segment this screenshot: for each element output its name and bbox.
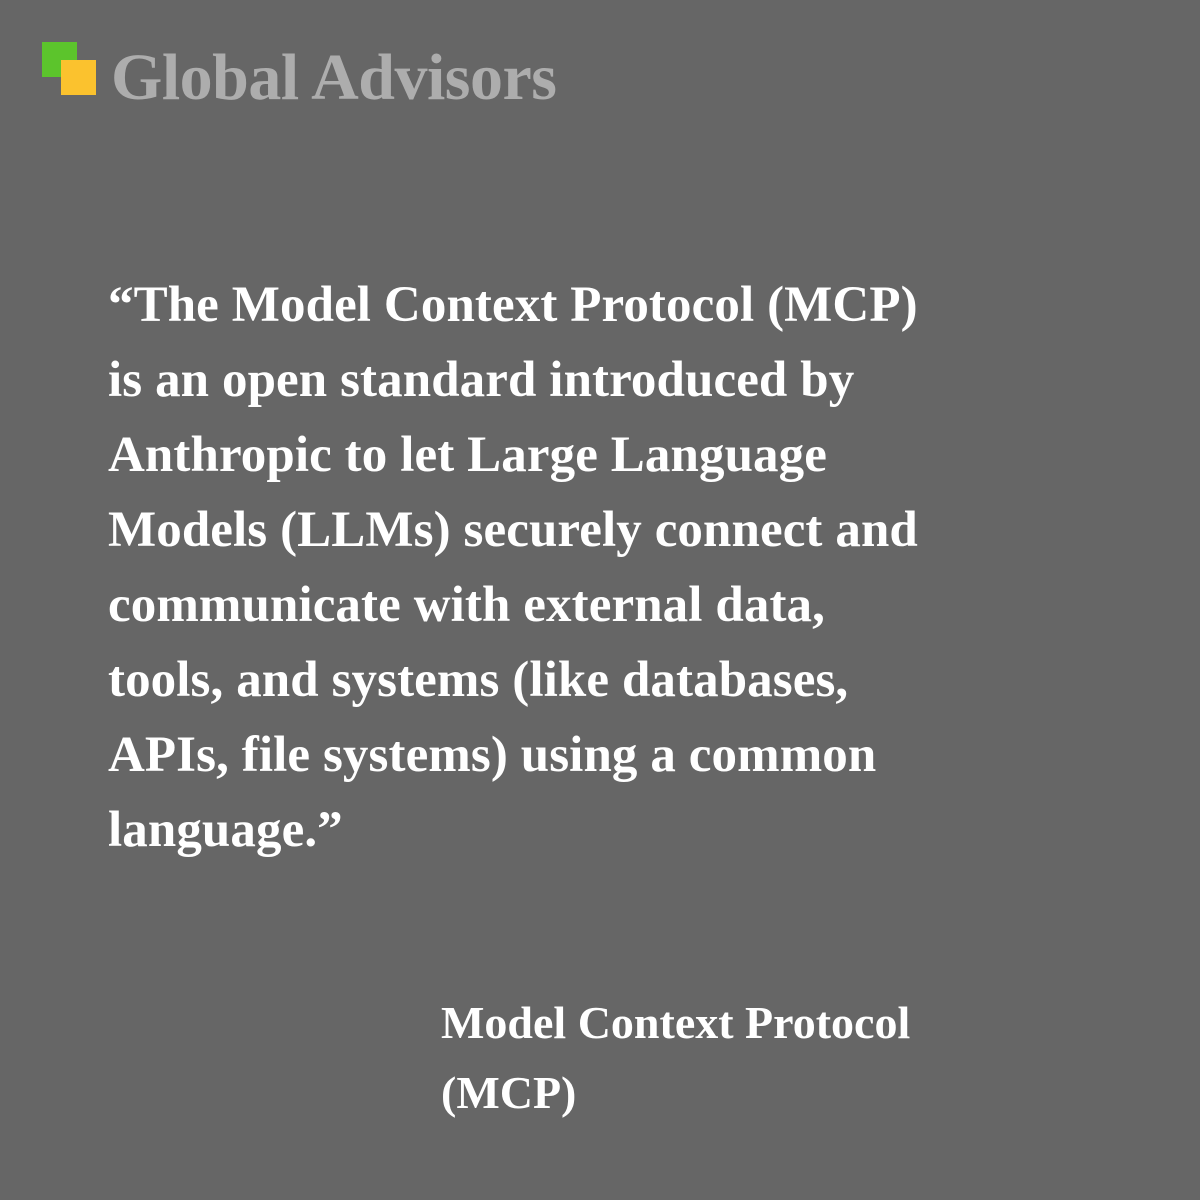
quote-line: Models (LLMs) securely connect and — [108, 493, 1138, 568]
quote-line: “The Model Context Protocol (MCP) — [108, 268, 1138, 343]
brand-name: Global Advisors — [111, 38, 556, 118]
attribution-line: (MCP) — [441, 1058, 1141, 1128]
quote-line: language.” — [108, 793, 1138, 868]
slide-canvas: Global Advisors “The Model Context Proto… — [0, 0, 1200, 1200]
global-advisors-logo-icon — [42, 42, 98, 98]
quote-line: communicate with external data, — [108, 568, 1138, 643]
quote-line: Anthropic to let Large Language — [108, 418, 1138, 493]
logo-square-amber-icon — [61, 60, 96, 95]
attribution-line: Model Context Protocol — [441, 988, 1141, 1058]
quote-block: “The Model Context Protocol (MCP) is an … — [108, 268, 1138, 868]
quote-line: is an open standard introduced by — [108, 343, 1138, 418]
quote-line: APIs, file systems) using a common — [108, 718, 1138, 793]
attribution-block: Model Context Protocol (MCP) — [441, 988, 1141, 1128]
quote-line: tools, and systems (like databases, — [108, 643, 1138, 718]
brand-lockup: Global Advisors — [42, 38, 556, 118]
